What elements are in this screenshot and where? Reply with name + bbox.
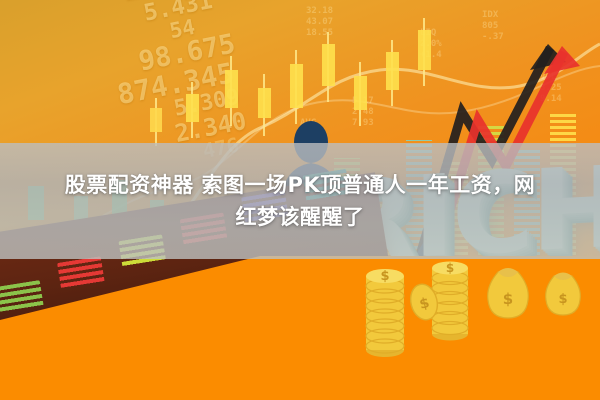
promo-banner: 23.453 5.431 54 98.675 874.345 5.309 2.3… xyxy=(0,0,600,400)
money-bag: $ xyxy=(488,268,529,318)
svg-text:$: $ xyxy=(446,261,454,275)
svg-text:$: $ xyxy=(503,290,513,308)
headline-line-2: 红梦该醒醒了 xyxy=(236,203,365,231)
money-bag: $ xyxy=(546,273,581,316)
headline-block: 股票配资神器 索图一场PK顶普通人一年工资，网 红梦该醒醒了 xyxy=(0,143,600,259)
svg-text:$: $ xyxy=(558,292,567,307)
coin-stack: $ xyxy=(366,269,404,357)
headline-line-1: 股票配资神器 索图一场PK顶普通人一年工资，网 xyxy=(65,171,535,199)
svg-text:$: $ xyxy=(380,269,389,284)
